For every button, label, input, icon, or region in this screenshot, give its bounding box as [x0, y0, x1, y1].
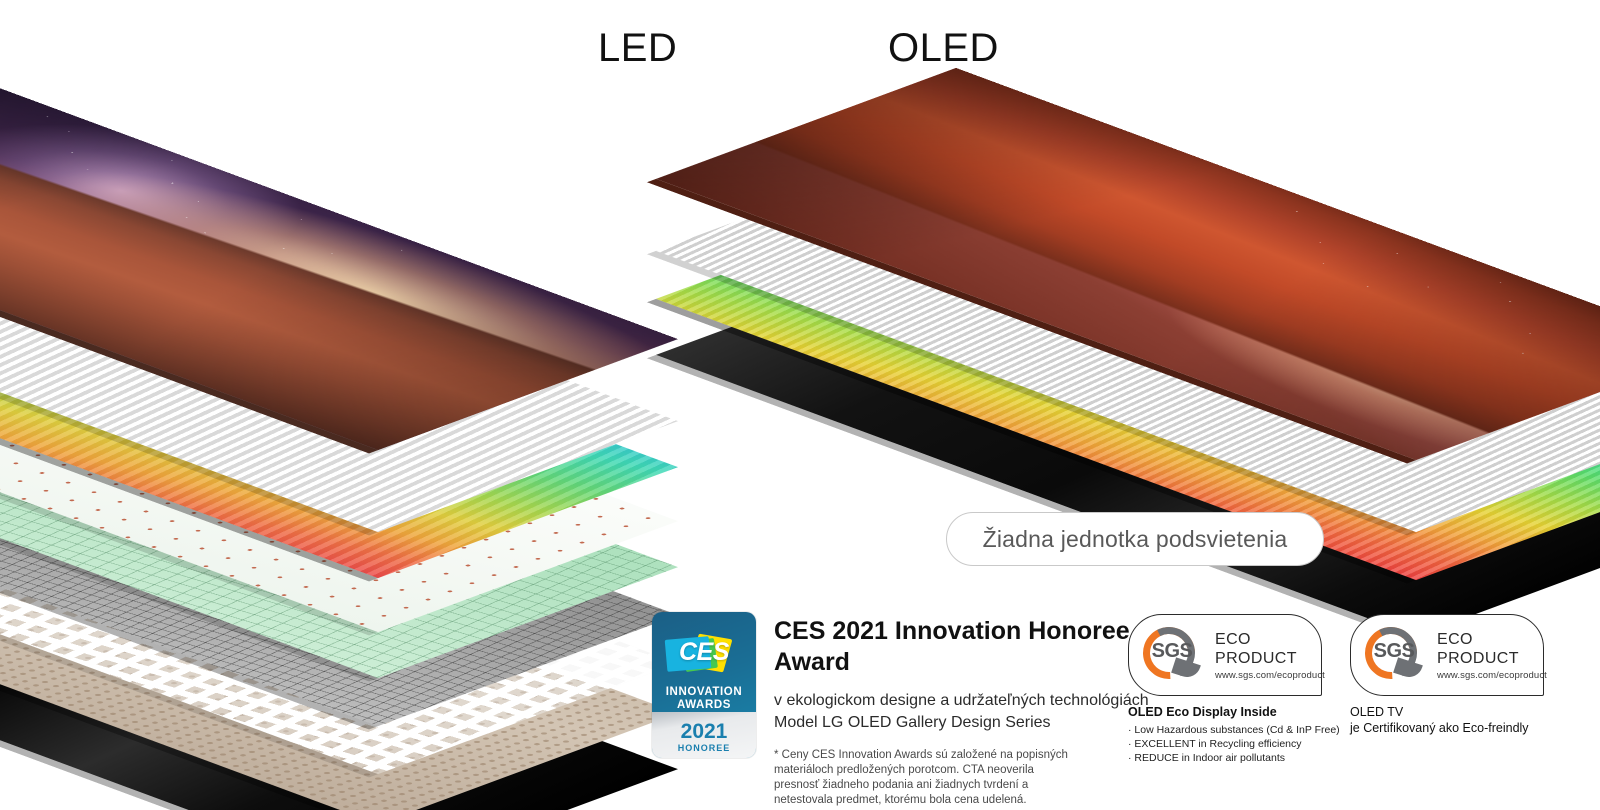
ces-logo-shapes: CES: [664, 634, 744, 680]
sgs-url-label: www.sgs.com/ecoproduct: [1215, 670, 1325, 681]
sgs-badge-caption: OLED TV je Certifikovaný ako Eco-freindl…: [1350, 704, 1544, 736]
sgs-eco-product-label: ECO PRODUCT: [1437, 630, 1547, 668]
ces-award-description: v ekologickom designe a udržateľných tec…: [774, 690, 1149, 734]
sgs-logo-icon: SGS: [1361, 623, 1433, 687]
sgs-url-label: www.sgs.com/ecoproduct: [1437, 670, 1547, 681]
no-backlight-unit-label: Žiadna jednotka podsvietenia: [983, 526, 1288, 553]
sgs-bullet-item: · REDUCE in Indoor air pollutants: [1128, 751, 1340, 765]
ces-award-text: CES 2021 Innovation Honoree Award v ekol…: [774, 612, 1149, 808]
sgs-badge-frame: SGS ECO PRODUCT www.sgs.com/ecoproduct: [1350, 614, 1544, 696]
oled-vs-led-comparison-graphic: LED OLED Žiadna jednotka podsvietenia CE…: [0, 0, 1600, 810]
sgs-wordmark: SGS: [1146, 640, 1198, 663]
led-panel-title: LED: [598, 26, 677, 71]
sgs-caption-bullets: · Low Hazardous substances (Cd & InP Fre…: [1128, 723, 1340, 765]
sgs-logo-icon: SGS: [1139, 623, 1211, 687]
sgs-eco-product-badge-display: SGS ECO PRODUCT www.sgs.com/ecoproduct O…: [1128, 614, 1340, 765]
ces-award-block: CES INNOVATION AWARDS 2021 HONOREE CES 2…: [652, 612, 1149, 808]
sgs-badge-caption: OLED Eco Display Inside · Low Hazardous …: [1128, 704, 1340, 765]
sgs-bullet-item: · EXCELLENT in Recycling efficiency: [1128, 737, 1340, 751]
ces-subtitle-line1: INNOVATION: [652, 686, 756, 699]
sgs-eco-product-label: ECO PRODUCT: [1215, 630, 1325, 668]
sgs-badge-frame: SGS ECO PRODUCT www.sgs.com/ecoproduct: [1128, 614, 1322, 696]
sgs-caption-line1: OLED TV: [1350, 704, 1544, 720]
sgs-wordmark: SGS: [1368, 640, 1420, 663]
ces-award-disclaimer: * Ceny CES Innovation Awards sú založené…: [774, 748, 1074, 808]
sgs-badge-text: ECO PRODUCT www.sgs.com/ecoproduct: [1433, 630, 1547, 681]
sgs-badge-text: ECO PRODUCT www.sgs.com/ecoproduct: [1211, 630, 1325, 681]
sgs-bullet-item: · Low Hazardous substances (Cd & InP Fre…: [1128, 723, 1340, 737]
ces-wordmark: CES: [664, 638, 744, 667]
sgs-caption-title: OLED Eco Display Inside: [1128, 704, 1340, 720]
ces-award-year: 2021: [652, 720, 756, 744]
ces-subtitle-line2: AWARDS: [652, 699, 756, 712]
ces-award-heading: CES 2021 Innovation Honoree Award: [774, 616, 1134, 678]
ces-logo-subtitle: INNOVATION AWARDS: [652, 686, 756, 712]
ces-description-line2: Model LG OLED Gallery Design Series: [774, 712, 1149, 734]
ces-innovation-awards-logo: CES INNOVATION AWARDS 2021 HONOREE: [652, 612, 756, 758]
oled-panel-title: OLED: [888, 26, 999, 71]
sgs-caption-line2: je Certifikovaný ako Eco-freindly: [1350, 720, 1544, 736]
no-backlight-unit-badge: Žiadna jednotka podsvietenia: [946, 512, 1324, 566]
sgs-eco-product-badge-tv: SGS ECO PRODUCT www.sgs.com/ecoproduct O…: [1350, 614, 1544, 736]
ces-honoree-label: HONOREE: [652, 743, 756, 753]
ces-description-line1: v ekologickom designe a udržateľných tec…: [774, 690, 1149, 712]
